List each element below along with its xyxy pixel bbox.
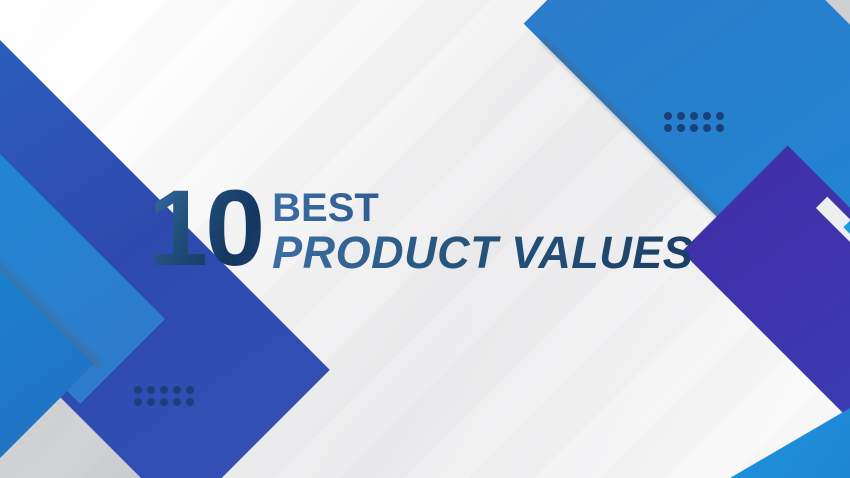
dot	[690, 124, 698, 132]
dot	[664, 112, 672, 120]
dot-grid-top-right	[664, 112, 724, 132]
title-slide: 10 BEST PRODUCT VALUES	[0, 0, 850, 478]
dot	[664, 124, 672, 132]
dot	[186, 398, 194, 406]
headline-line-product-values: PRODUCT VALUES	[272, 228, 693, 278]
dot	[690, 112, 698, 120]
dot	[134, 386, 142, 394]
dot	[147, 398, 155, 406]
headline-line-best: BEST	[272, 188, 693, 228]
dot	[703, 112, 711, 120]
dot	[677, 112, 685, 120]
headline-block: 10 BEST PRODUCT VALUES	[148, 178, 693, 278]
dot	[716, 112, 724, 120]
dot	[677, 124, 685, 132]
dot	[160, 386, 168, 394]
dot	[173, 398, 181, 406]
dot	[186, 386, 194, 394]
dot	[147, 386, 155, 394]
dot-grid-bottom-left	[134, 386, 194, 406]
headline-word-stack: BEST PRODUCT VALUES	[272, 178, 693, 278]
dot	[134, 398, 142, 406]
dot	[160, 398, 168, 406]
dot	[716, 124, 724, 132]
headline-number: 10	[148, 178, 272, 277]
dot	[173, 386, 181, 394]
dot	[703, 124, 711, 132]
